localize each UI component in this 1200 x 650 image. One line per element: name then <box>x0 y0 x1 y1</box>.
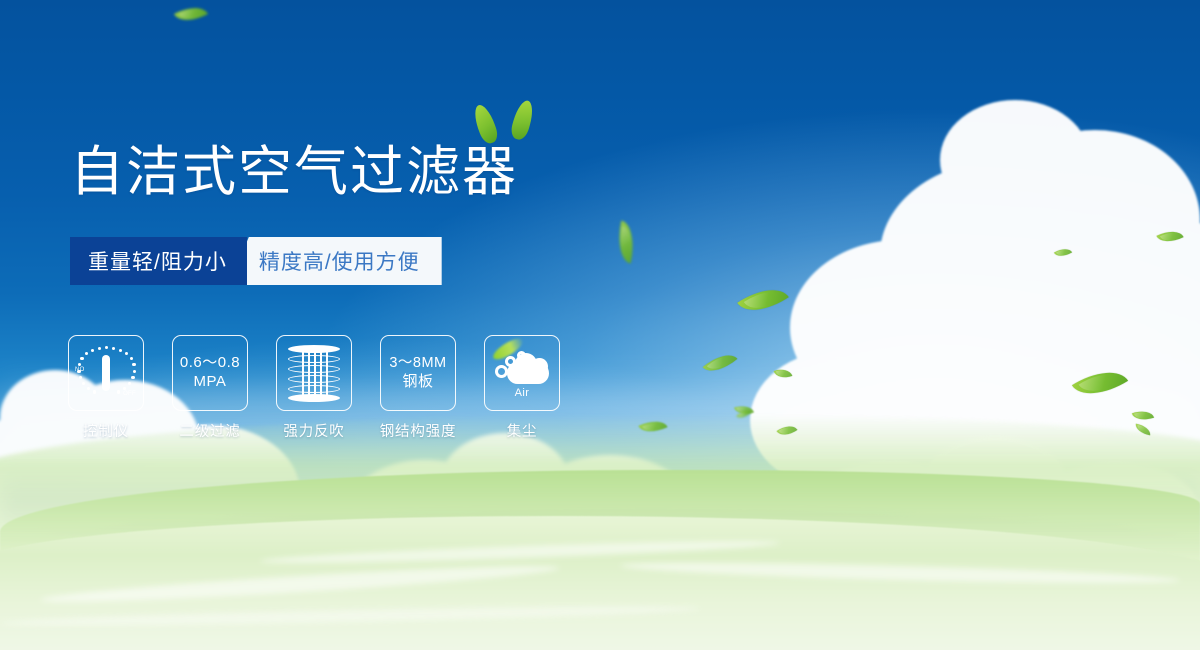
gauge-off-label: OFF <box>123 391 136 397</box>
page-title: 自洁式空气过滤器 <box>70 142 518 202</box>
feature-label: 钢结构强度 <box>380 420 457 441</box>
gauge-on-label: NO <box>75 367 85 373</box>
title-block: 自洁式空气过滤器 <box>70 142 518 202</box>
feature-label: 控制仪 <box>83 420 129 441</box>
feature-icon-box: 0.6〜0.8 MPA <box>172 335 248 411</box>
tagline-right-text: 精度高/使用方便 <box>259 246 420 276</box>
feature-label: 集尘 <box>507 420 538 441</box>
air-cloud-icon: Air <box>493 349 551 397</box>
tagline-left: 重量轻/阻力小 <box>70 237 247 285</box>
feature-item-controller[interactable]: NO OFF 控制仪 <box>68 335 144 441</box>
steel-thickness-text: 3〜8MM <box>389 355 446 373</box>
feature-icon-box: 3〜8MM 钢板 <box>380 335 456 411</box>
pressure-range-text: 0.6〜0.8 <box>180 354 240 373</box>
steel-plate-text: 钢板 <box>402 373 433 392</box>
air-label: Air <box>493 387 551 399</box>
feature-icon-box <box>276 335 352 411</box>
feature-item-pressure[interactable]: 0.6〜0.8 MPA 二级过滤 <box>172 335 248 441</box>
hero-banner: 自洁式空气过滤器 重量轻/阻力小 精度高/使用方便 <box>0 0 1200 650</box>
tagline-right: 精度高/使用方便 <box>229 237 442 285</box>
feature-icon-box: Air <box>484 335 560 411</box>
feature-item-steel[interactable]: 3〜8MM 钢板 钢结构强度 <box>380 335 456 441</box>
feature-item-blowback[interactable]: 强力反吹 <box>276 335 352 441</box>
tagline-ribbon: 重量轻/阻力小 精度高/使用方便 <box>70 237 442 285</box>
feature-item-dust-collection[interactable]: Air 集尘 <box>484 335 560 441</box>
gauge-icon: NO OFF <box>76 344 136 402</box>
filter-cartridge-icon <box>288 345 340 401</box>
grass-field-near <box>0 516 1200 650</box>
feature-icon-box: NO OFF <box>68 335 144 411</box>
tagline-left-text: 重量轻/阻力小 <box>88 246 227 276</box>
pressure-unit-text: MPA <box>194 373 227 392</box>
feature-list: NO OFF 控制仪 0.6〜0.8 MPA 二级过滤 <box>68 335 560 441</box>
feature-label: 二级过滤 <box>179 420 240 441</box>
sprout-leaves-icon <box>472 100 546 150</box>
feature-label: 强力反吹 <box>283 420 344 441</box>
